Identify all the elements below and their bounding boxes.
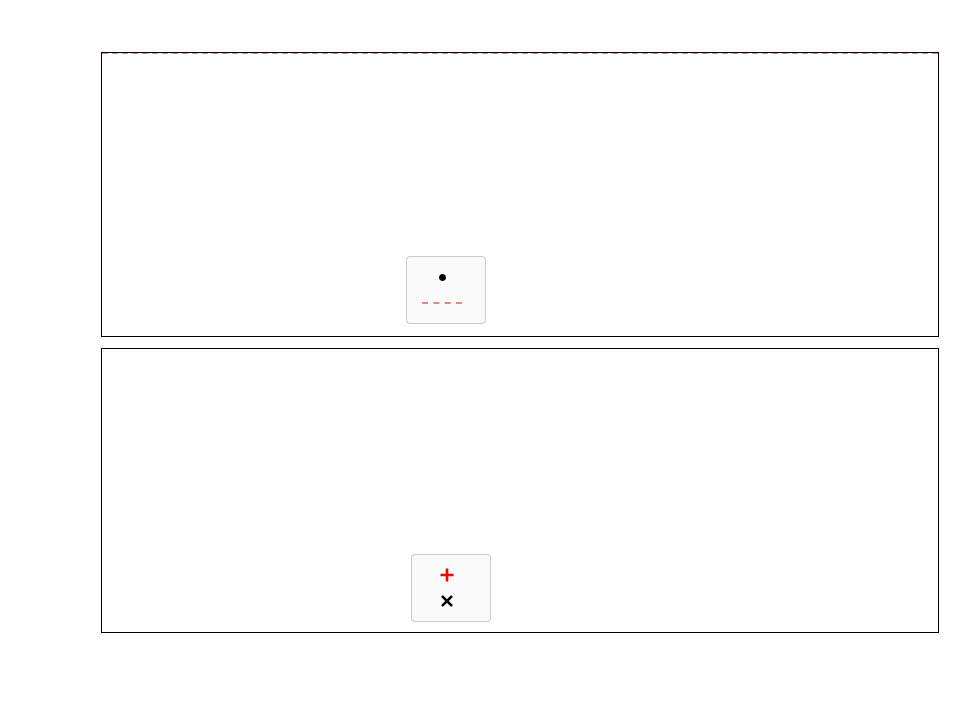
figure-canvas [0, 0, 960, 720]
threshold-line [102, 52, 938, 54]
dot-marker-icon [416, 274, 468, 281]
legend-item-predicted-stars[interactable] [421, 588, 479, 614]
bottom-panel-legend[interactable] [411, 554, 491, 622]
top-panel-axes [101, 52, 939, 337]
dashed-line-icon [416, 302, 468, 304]
plus-marker-icon [421, 567, 473, 583]
legend-item-matched-stars[interactable] [421, 562, 479, 588]
legend-item-measurements[interactable] [416, 264, 474, 290]
top-panel-legend[interactable] [406, 256, 486, 324]
legend-item-threshold[interactable] [416, 290, 474, 316]
bottom-panel-axes [101, 348, 939, 633]
cross-marker-icon [421, 593, 473, 609]
